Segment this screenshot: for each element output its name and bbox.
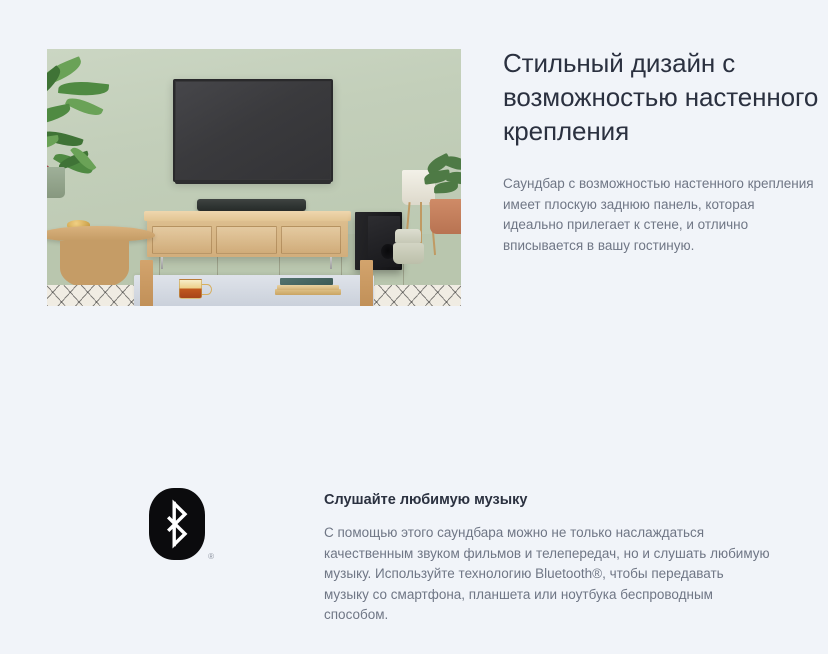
stacked-books	[275, 276, 341, 297]
living-room-scene	[47, 49, 461, 306]
feature-title: Стильный дизайн с возможностью настенног…	[503, 46, 821, 148]
bluetooth-body: С помощью этого саундбара можно не тольк…	[324, 523, 770, 626]
green-pot	[47, 167, 65, 198]
wall-mounted-tv	[173, 79, 333, 182]
left-plants	[47, 62, 155, 232]
wooden-tv-console	[147, 215, 348, 257]
tv-chin	[175, 180, 331, 184]
registered-trademark-mark: ®	[208, 553, 214, 561]
mug-handle	[202, 284, 212, 295]
console-top-surface	[144, 211, 351, 220]
wall-mounted-soundbar	[197, 199, 306, 211]
wall-mount-text-column: Стильный дизайн с возможностью настенног…	[503, 46, 821, 256]
feature-body: Саундбар с возможностью настенного крепл…	[503, 174, 815, 256]
bluetooth-feature-section: ® Слушайте любимую музыку С помощью этог…	[0, 480, 828, 640]
glass-mug-of-tea	[179, 279, 201, 299]
bluetooth-icon	[149, 488, 205, 560]
bluetooth-logo-wrap: ®	[149, 488, 205, 560]
bluetooth-text-column: Слушайте любимую музыку С помощью этого …	[324, 490, 770, 626]
ceramic-vases	[393, 229, 424, 264]
terracotta-pot	[430, 199, 461, 234]
tv-screen	[176, 82, 330, 179]
living-room-soundbar-photo	[47, 49, 461, 306]
wall-mount-feature-section: Стильный дизайн с возможностью настенног…	[0, 0, 828, 330]
right-plant	[424, 157, 461, 234]
bluetooth-title: Слушайте любимую музыку	[324, 490, 770, 510]
